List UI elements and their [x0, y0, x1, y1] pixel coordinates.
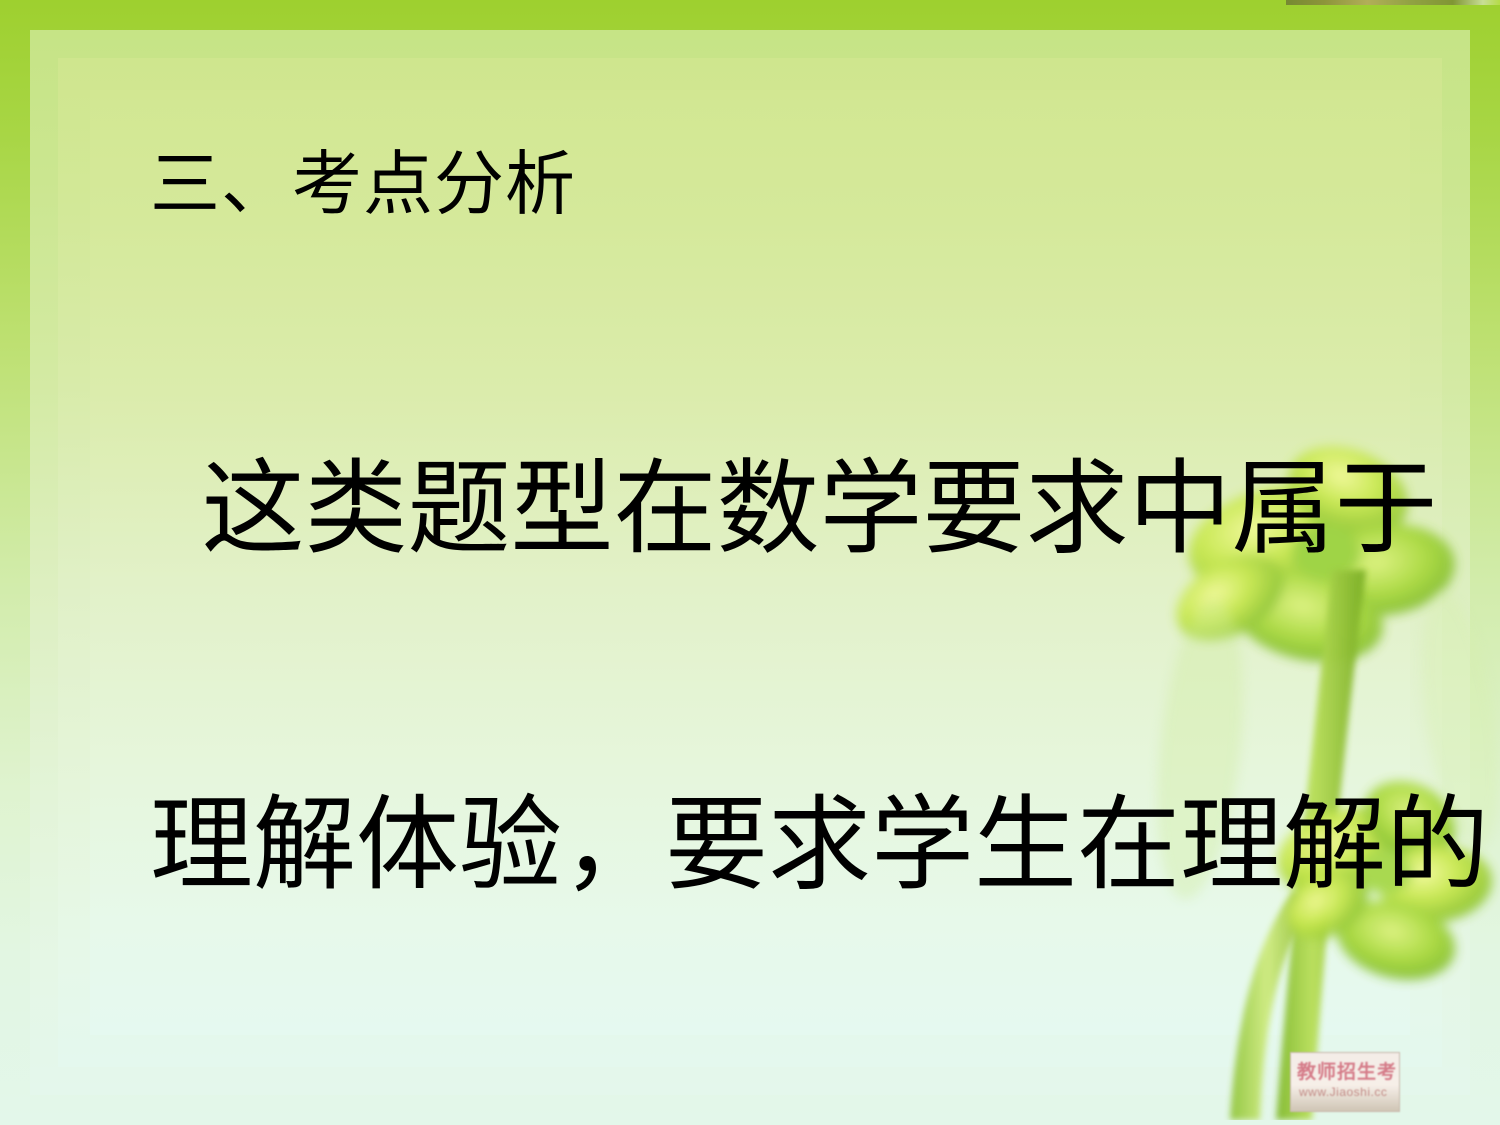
- watermark-secondary-text: www.Jiaoshi.cc: [1299, 1086, 1387, 1098]
- presentation-slide: 三、考点分析 这类题型在数学要求中属于 理解体验，要求学生在理解的 基础上把对象…: [0, 0, 1500, 1125]
- slide-text-area: 三、考点分析 这类题型在数学要求中属于 理解体验，要求学生在理解的 基础上把对象…: [150, 148, 1410, 1125]
- slide-title: 三、考点分析: [150, 148, 1410, 224]
- watermark-primary-text: 教师招生考: [1297, 1063, 1397, 1082]
- watermark-badge: 教师招生考 www.Jiaoshi.cc: [1290, 1052, 1400, 1112]
- body-line: 理解体验，要求学生在理解的: [150, 790, 1410, 902]
- top-edge-strip: [1286, 0, 1500, 5]
- slide-body-text: 这类题型在数学要求中属于 理解体验，要求学生在理解的 基础上把对象用于新的情境，…: [150, 230, 1410, 1125]
- body-line: 这类题型在数学要求中属于: [150, 454, 1410, 566]
